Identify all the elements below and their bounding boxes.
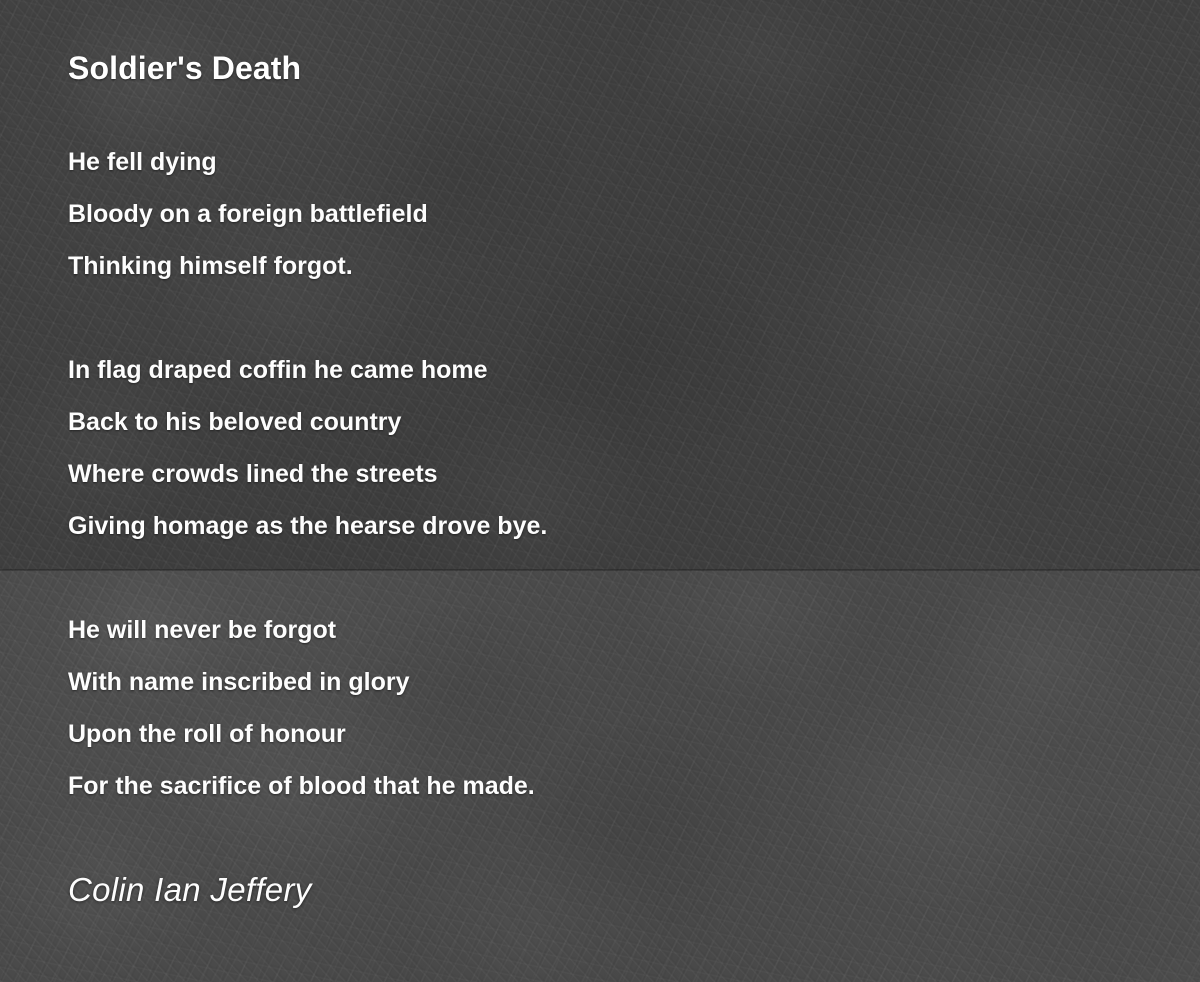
poem-stanza: He will never be forgot With name inscri… <box>68 604 1160 812</box>
poem-line: For the sacrifice of blood that he made. <box>68 760 1160 812</box>
poem-author-signature: Colin Ian Jeffery <box>68 868 1160 912</box>
poem-image-card: Soldier's Death He fell dying Bloody on … <box>0 0 1200 982</box>
poem-title: Soldier's Death <box>68 0 1160 88</box>
poem-line: With name inscribed in glory <box>68 656 1160 708</box>
poem-line: He fell dying <box>68 136 1160 188</box>
poem-line: Thinking himself forgot. <box>68 240 1160 292</box>
poem-line: He will never be forgot <box>68 604 1160 656</box>
poem-stanza: In flag draped coffin he came home Back … <box>68 344 1160 552</box>
poem-line: Bloody on a foreign battlefield <box>68 188 1160 240</box>
poem-line: Upon the roll of honour <box>68 708 1160 760</box>
poem-stanza: He fell dying Bloody on a foreign battle… <box>68 136 1160 292</box>
poem-line: In flag draped coffin he came home <box>68 344 1160 396</box>
poem-line: Back to his beloved country <box>68 396 1160 448</box>
poem-line: Where crowds lined the streets <box>68 448 1160 500</box>
poem-line: Giving homage as the hearse drove bye. <box>68 500 1160 552</box>
poem-text-column: Soldier's Death He fell dying Bloody on … <box>68 0 1160 912</box>
